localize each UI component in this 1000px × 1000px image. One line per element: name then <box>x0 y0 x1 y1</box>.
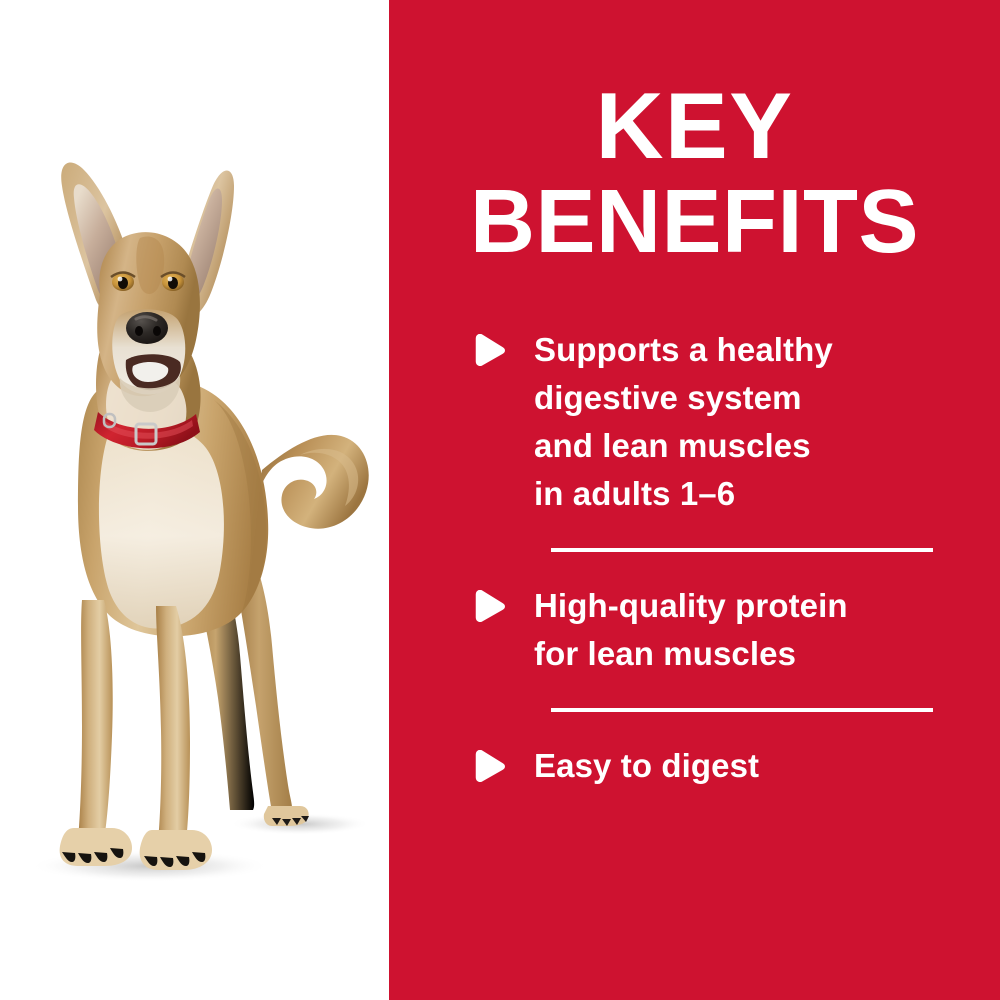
dog-eye-right-glint <box>168 277 173 282</box>
page-title: KEY BENEFITS <box>389 78 1000 270</box>
benefit-text-1: Supports a healthy digestive system and … <box>534 326 833 518</box>
benefit-text-2: High-quality protein for lean muscles <box>534 582 848 678</box>
benefit-divider-2 <box>551 708 933 712</box>
benefit-item-3: Easy to digest <box>389 742 1000 790</box>
benefit-divider-1 <box>551 548 933 552</box>
benefits-list: Supports a healthy digestive system and … <box>389 326 1000 790</box>
title-line-benefits: BENEFITS <box>389 174 1000 270</box>
benefits-pane: KEY BENEFITS Supports a healthy digestiv… <box>389 0 1000 1000</box>
dog-photo <box>0 0 389 1000</box>
play-triangle-icon <box>472 590 506 622</box>
benefit-item-1: Supports a healthy digestive system and … <box>389 326 1000 518</box>
title-line-key: KEY <box>389 78 1000 174</box>
dog-front-leg-left <box>78 600 113 840</box>
benefit-item-2: High-quality protein for lean muscles <box>389 582 1000 678</box>
dog-chest-belly <box>99 424 224 629</box>
play-triangle-icon <box>472 334 506 366</box>
dog-eye-left-glint <box>118 277 123 282</box>
dog-front-leg-right <box>156 606 190 842</box>
dog-nostril-right <box>153 326 161 336</box>
dog-photo-pane <box>0 0 389 1000</box>
play-triangle-icon <box>472 750 506 782</box>
dog-nostril-left <box>135 326 143 336</box>
benefit-text-3: Easy to digest <box>534 742 759 790</box>
key-benefits-panel: KEY BENEFITS Supports a healthy digestiv… <box>0 0 1000 1000</box>
